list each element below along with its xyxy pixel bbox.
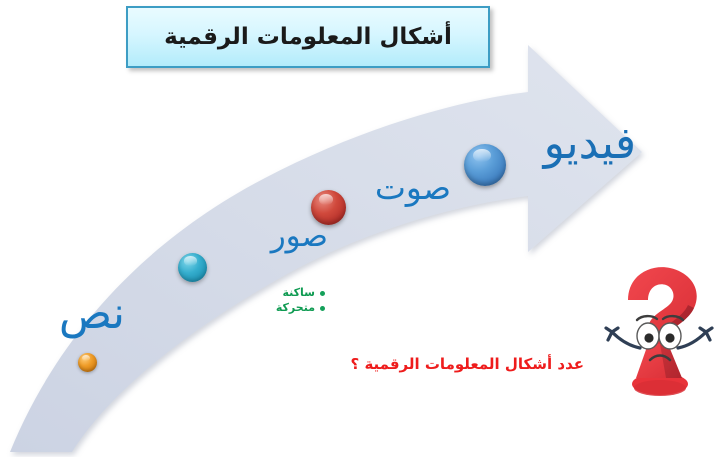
bullet-sphere-audio (311, 190, 346, 225)
sub-bullet-label-static: ساكنة (282, 286, 315, 301)
node-label-images: صور (271, 218, 328, 254)
bullet-sphere-text (78, 353, 97, 372)
bullet-sphere-video (464, 144, 506, 186)
node-label-video: فيديو (544, 118, 636, 169)
sub-bullet-list: ساكنة متحركة (276, 286, 325, 316)
title-box: أشكال المعلومات الرقمية (126, 6, 490, 68)
node-label-text: نص (59, 288, 125, 339)
bullet-dot-icon (320, 291, 325, 296)
sub-bullet-label-animated: متحركة (276, 301, 315, 316)
node-label-audio: صوت (375, 168, 451, 207)
list-item: متحركة (276, 301, 325, 316)
bullet-sphere-images (178, 253, 207, 282)
slide-canvas: أشكال المعلومات الرقمية فيديو صوت صور نص… (0, 0, 721, 457)
question-text: عدد أشكال المعلومات الرقمية ؟ (351, 355, 584, 373)
page-title: أشكال المعلومات الرقمية (164, 24, 452, 50)
list-item: ساكنة (276, 286, 325, 301)
question-mark-mascot-icon (604, 258, 716, 398)
bullet-dot-icon (320, 306, 325, 311)
